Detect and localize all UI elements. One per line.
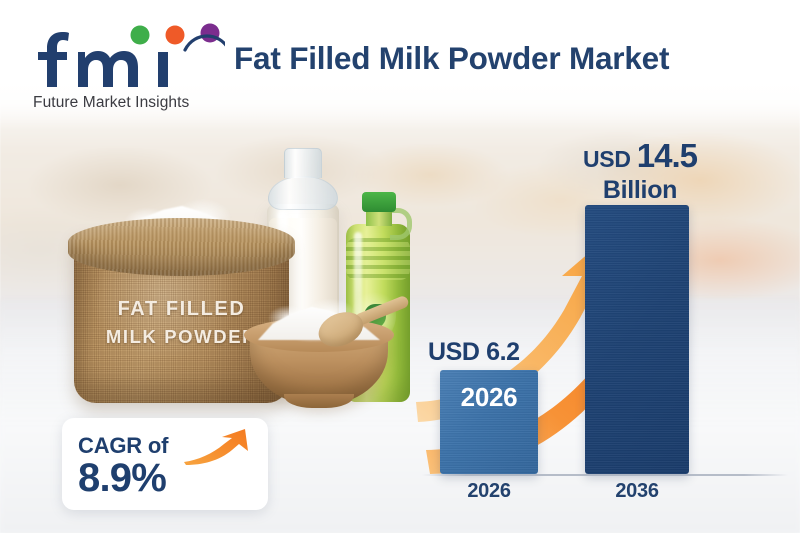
bar-2036-value-number: 14.5 xyxy=(637,137,697,174)
bar-2036 xyxy=(585,205,689,474)
bar-2026-inner-label: 2026 xyxy=(440,382,538,413)
logo-dot-green xyxy=(131,26,150,45)
fmi-logo-mark xyxy=(30,22,225,92)
fmi-logo: Future Market Insights xyxy=(30,22,225,120)
page-title: Fat Filled Milk Powder Market xyxy=(234,40,669,77)
bar-2036-value-label: USD 14.5 Billion xyxy=(550,137,730,205)
fmi-logo-tagline: Future Market Insights xyxy=(33,94,225,112)
bar-2026: 2026 xyxy=(440,370,538,474)
logo-dot-orange xyxy=(166,26,185,45)
axis-label-2026: 2026 xyxy=(429,480,549,503)
logo-dot-purple xyxy=(201,24,220,43)
axis-label-2036: 2036 xyxy=(577,480,697,503)
cagr-badge: CAGR of 8.9% xyxy=(62,418,268,510)
infographic-canvas: Future Market Insights Fat Filled Milk P… xyxy=(0,0,800,533)
header: Future Market Insights Fat Filled Milk P… xyxy=(0,0,800,126)
market-size-bar-chart: 2026 USD 6.2 USD 14.5 Billion 2026 2036 xyxy=(410,120,800,533)
trend-up-arrow-icon xyxy=(182,427,260,465)
wooden-bowl-image xyxy=(244,300,394,410)
cagr-value: 8.9% xyxy=(78,458,166,498)
bar-2036-value-prefix: USD xyxy=(583,146,631,172)
bar-2026-value-label: USD 6.2 xyxy=(428,338,520,367)
bar-2036-value-unit: Billion xyxy=(550,176,730,205)
chart-baseline xyxy=(422,474,788,476)
